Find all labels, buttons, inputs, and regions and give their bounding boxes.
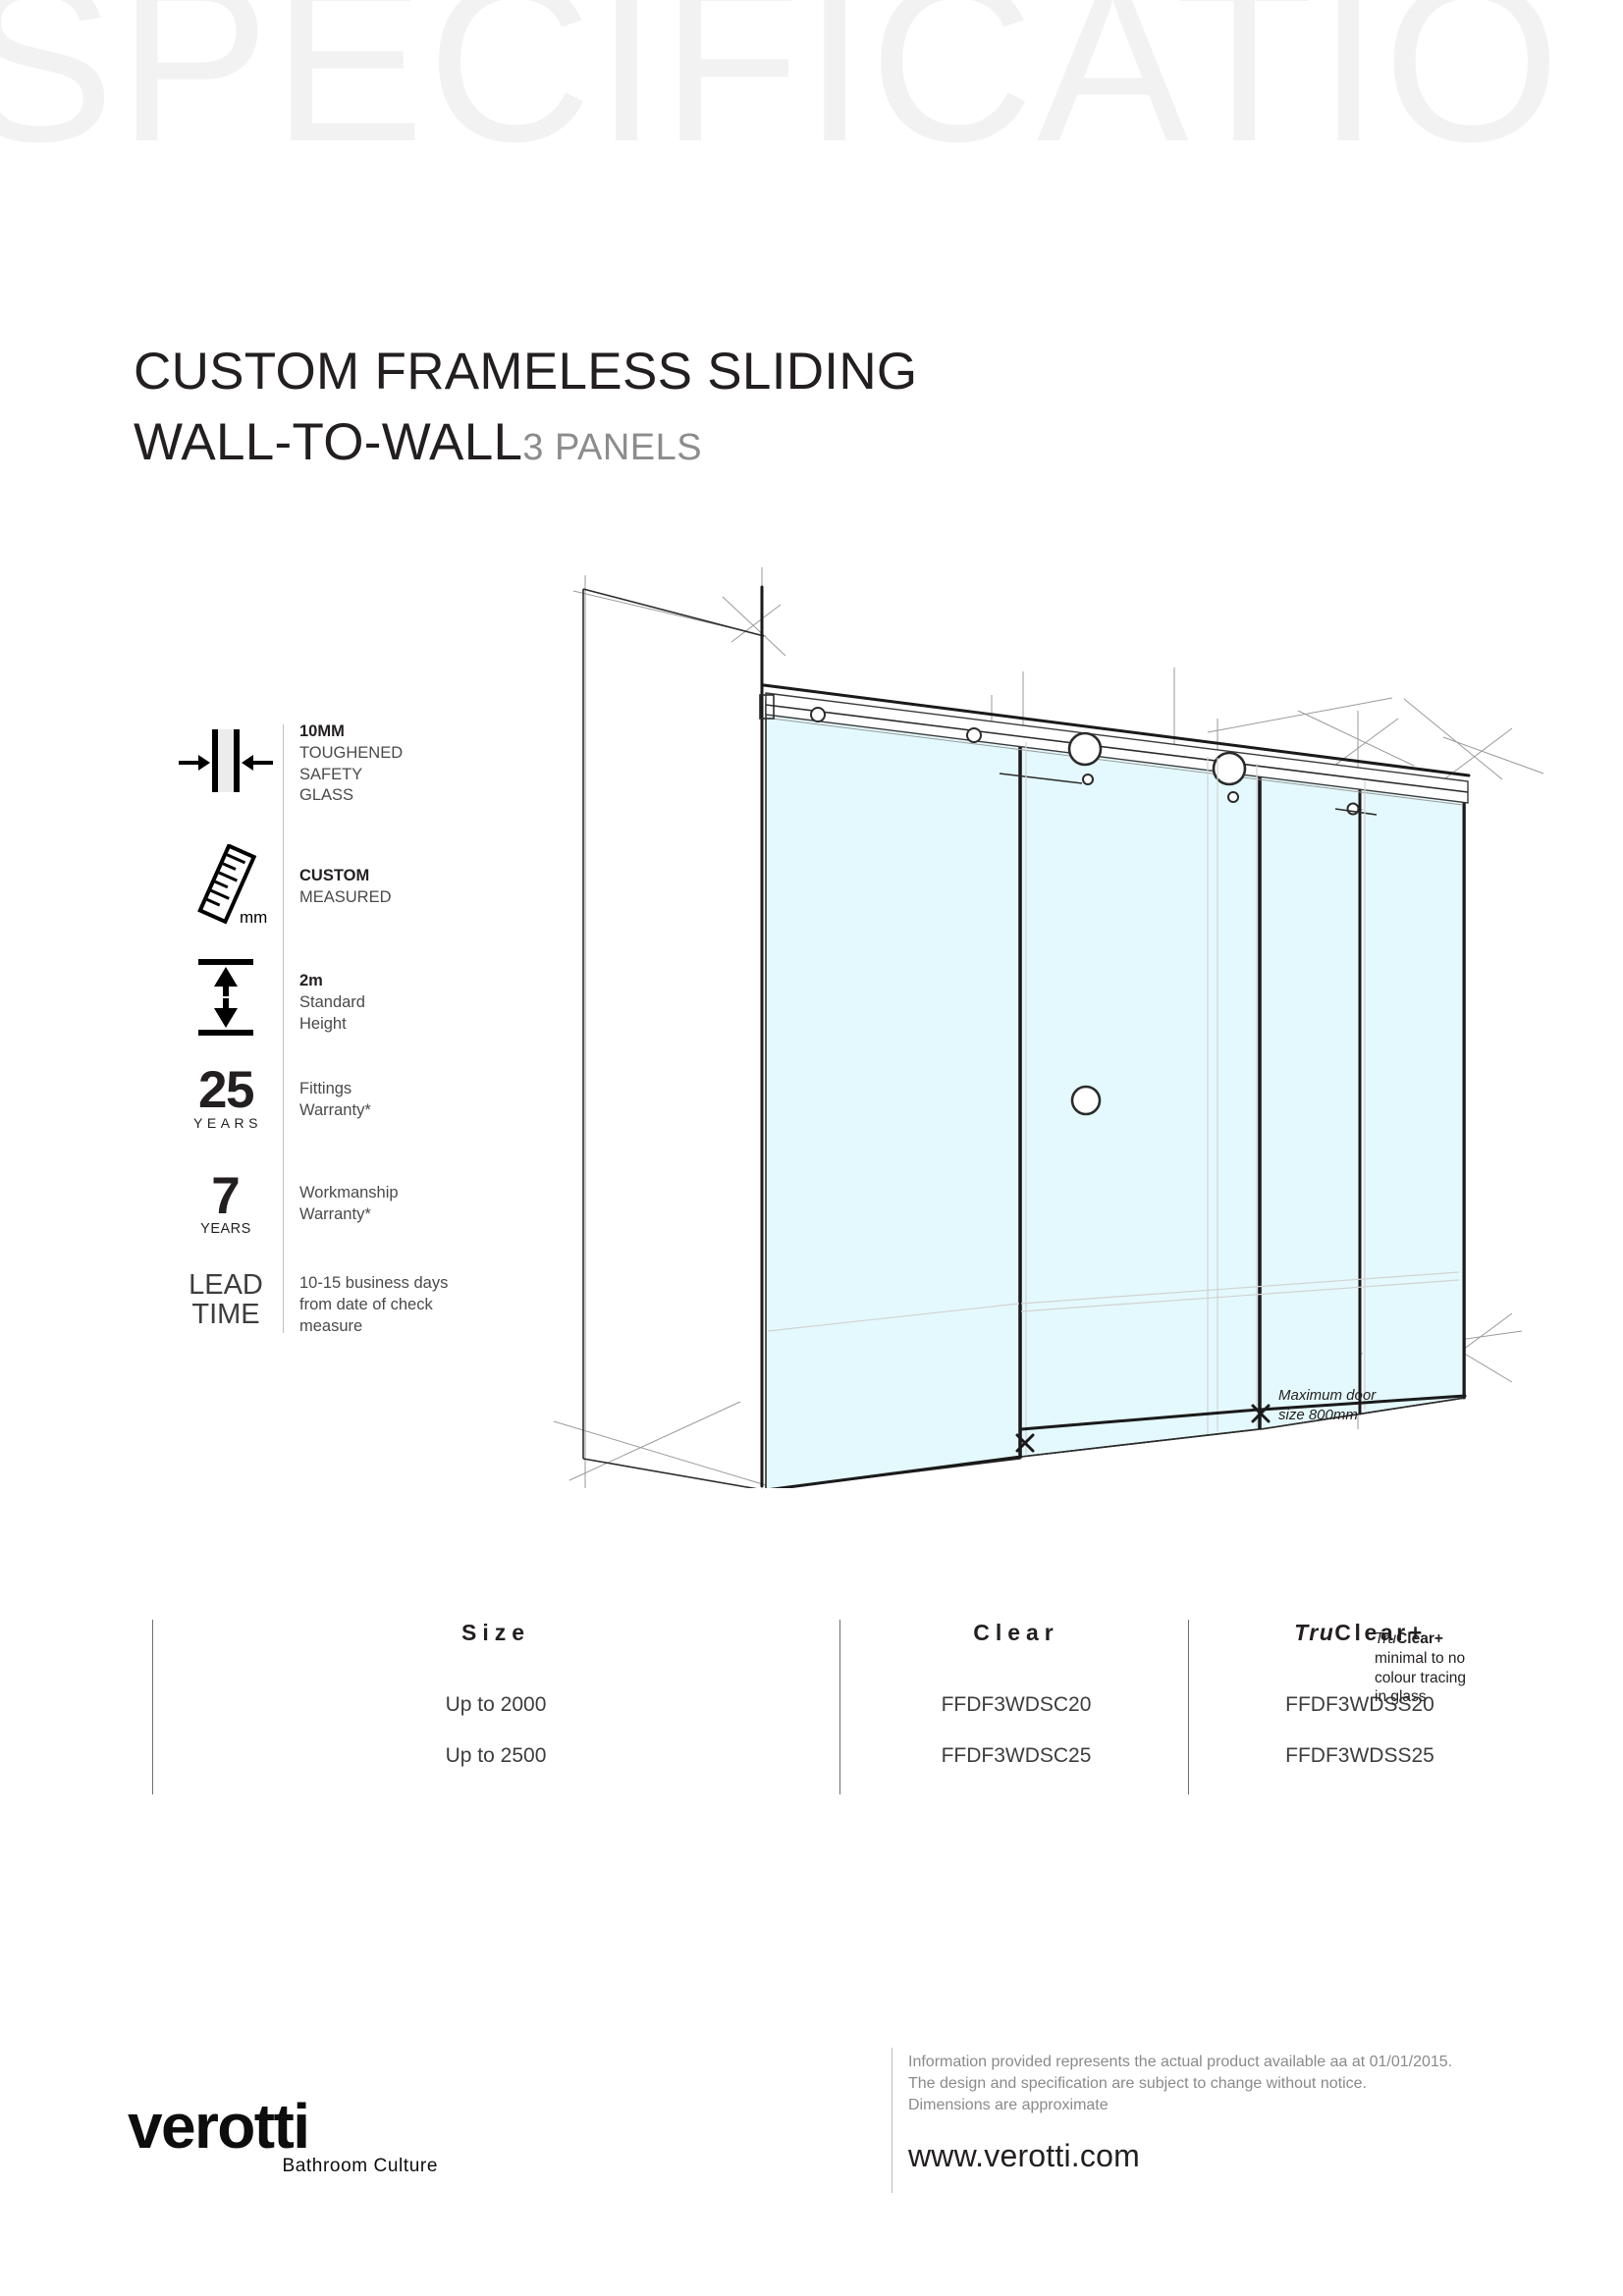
warranty-7-years-icon: 7 YEARS — [177, 1173, 275, 1257]
website-url[interactable]: www.verotti.com — [908, 2138, 1140, 2174]
max-door-size-annotation: Maximum door size 800mm — [1278, 1386, 1376, 1426]
truclear-note-line-2: colour tracing — [1375, 1669, 1551, 1688]
spec-text-lead-time: 10-15 business days from date of check m… — [299, 1273, 501, 1337]
spec-text-standard-height: 2m Standard Height — [299, 971, 501, 1035]
table-divider-size-clear — [839, 1620, 840, 1794]
truclear-note-line-3: in glass — [1375, 1687, 1551, 1707]
svg-text:mm: mm — [240, 908, 267, 927]
footer-disclaimer-line-2: The design and specification are subject… — [908, 2073, 1556, 2095]
table-cell-size-row1: Up to 2000 — [231, 1693, 761, 1717]
footer-disclaimer-line-3: Dimensions are approximate — [908, 2095, 1556, 2116]
product-drawing: .gl { fill: #e4f9fd; } .hv { stroke:#1a1… — [530, 546, 1551, 1488]
footer-disclaimer-line-1: Information provided represents the actu… — [908, 2052, 1556, 2073]
spec-line-5-0: 10-15 business days — [299, 1274, 448, 1292]
specification-page: SPECIFICATIO CUSTOM FRAMELESS SLIDING WA… — [0, 0, 1623, 2296]
ruler-icon: mm — [177, 844, 275, 929]
footer-disclaimer: Information provided represents the actu… — [908, 2052, 1556, 2116]
spec-line-4-1: Warranty* — [299, 1205, 371, 1223]
spec-line-2-1: Height — [299, 1015, 347, 1033]
spec-bold-2: 2m — [299, 972, 323, 989]
truclear-note-heading-italic: Tru — [1375, 1630, 1396, 1647]
title-line-1: CUSTOM FRAMELESS SLIDING — [134, 346, 1017, 398]
spec-line-1-0: MEASURED — [299, 888, 392, 906]
warranty-7-number: 7 — [177, 1173, 275, 1221]
logo-wordmark: verotti — [128, 2095, 442, 2158]
max-door-line-1: Maximum door — [1278, 1387, 1376, 1404]
spec-line-0-1: SAFETY — [299, 766, 362, 783]
lead-time-label-1: LEAD — [177, 1271, 275, 1301]
warranty-25-unit: YEARS — [177, 1115, 275, 1131]
spec-line-5-1: from date of check — [299, 1296, 433, 1313]
spec-line-3-0: Fittings — [299, 1080, 352, 1097]
table-header-clear: Clear — [859, 1620, 1173, 1646]
lead-time-icon: LEAD TIME — [177, 1271, 275, 1356]
footer-divider — [892, 2048, 893, 2193]
spec-text-fittings-warranty: Fittings Warranty* — [299, 1079, 501, 1122]
title-subtitle: 3 PANELS — [522, 427, 702, 468]
spec-line-5-2: measure — [299, 1317, 362, 1335]
lead-time-label-2: TIME — [177, 1301, 275, 1330]
spec-text-workmanship-warranty: Workmanship Warranty* — [299, 1183, 501, 1226]
table-cell-clear-row1: FFDF3WDSC20 — [859, 1693, 1173, 1717]
table-cell-clear-row2: FFDF3WDSC25 — [859, 1744, 1173, 1768]
spec-line-0-2: GLASS — [299, 786, 353, 804]
warranty-25-number: 25 — [177, 1067, 275, 1115]
truclear-note-line-1: minimal to no — [1375, 1649, 1551, 1669]
product-code-table: Size Up to 2000 Up to 2500 Clear FFDF3WD… — [152, 1620, 1546, 1801]
spec-bold-1: CUSTOM — [299, 867, 369, 884]
table-divider-clear-truclear — [1188, 1620, 1189, 1794]
table-cell-size-row2: Up to 2500 — [231, 1744, 761, 1768]
verotti-logo: verotti Bathroom Culture — [128, 2095, 442, 2177]
table-column-size: Size Up to 2000 Up to 2500 — [231, 1620, 761, 1646]
spec-line-0-0: TOUGHENED — [299, 744, 403, 762]
table-header-truclear-italic: Tru — [1294, 1620, 1334, 1645]
spec-text-glass-thickness: 10MM TOUGHENED SAFETY GLASS — [299, 721, 501, 807]
height-arrow-icon — [177, 955, 275, 1040]
spec-line-3-1: Warranty* — [299, 1101, 371, 1119]
watermark-text: SPECIFICATIO — [0, 0, 1623, 177]
truclear-note: TruClear+ minimal to no colour tracing i… — [1375, 1629, 1551, 1707]
table-column-clear: Clear FFDF3WDSC20 FFDF3WDSC25 — [859, 1620, 1173, 1646]
table-header-size: Size — [231, 1620, 761, 1646]
max-door-line-2: size 800mm — [1278, 1407, 1358, 1423]
title-line-2: WALL-TO-WALL3 PANELS — [134, 416, 1017, 468]
truclear-note-heading-bold: Clear+ — [1396, 1630, 1443, 1647]
spec-line-4-0: Workmanship — [299, 1184, 399, 1201]
table-cell-truclear-row2: FFDF3WDSS25 — [1203, 1744, 1517, 1768]
truclear-note-heading: TruClear+ — [1375, 1629, 1551, 1649]
spec-bold-0: 10MM — [299, 722, 345, 740]
spec-text-custom-measured: CUSTOM MEASURED — [299, 866, 501, 909]
title-line-2-main: WALL-TO-WALL — [134, 413, 522, 471]
spec-line-2-0: Standard — [299, 993, 365, 1011]
warranty-7-unit: YEARS — [177, 1221, 275, 1237]
spec-list-divider — [283, 724, 284, 1333]
warranty-25-years-icon: 25 YEARS — [177, 1067, 275, 1151]
page-title: CUSTOM FRAMELESS SLIDING WALL-TO-WALL3 P… — [134, 346, 1017, 468]
glass-thickness-icon — [177, 721, 275, 806]
table-divider-left — [152, 1620, 153, 1794]
